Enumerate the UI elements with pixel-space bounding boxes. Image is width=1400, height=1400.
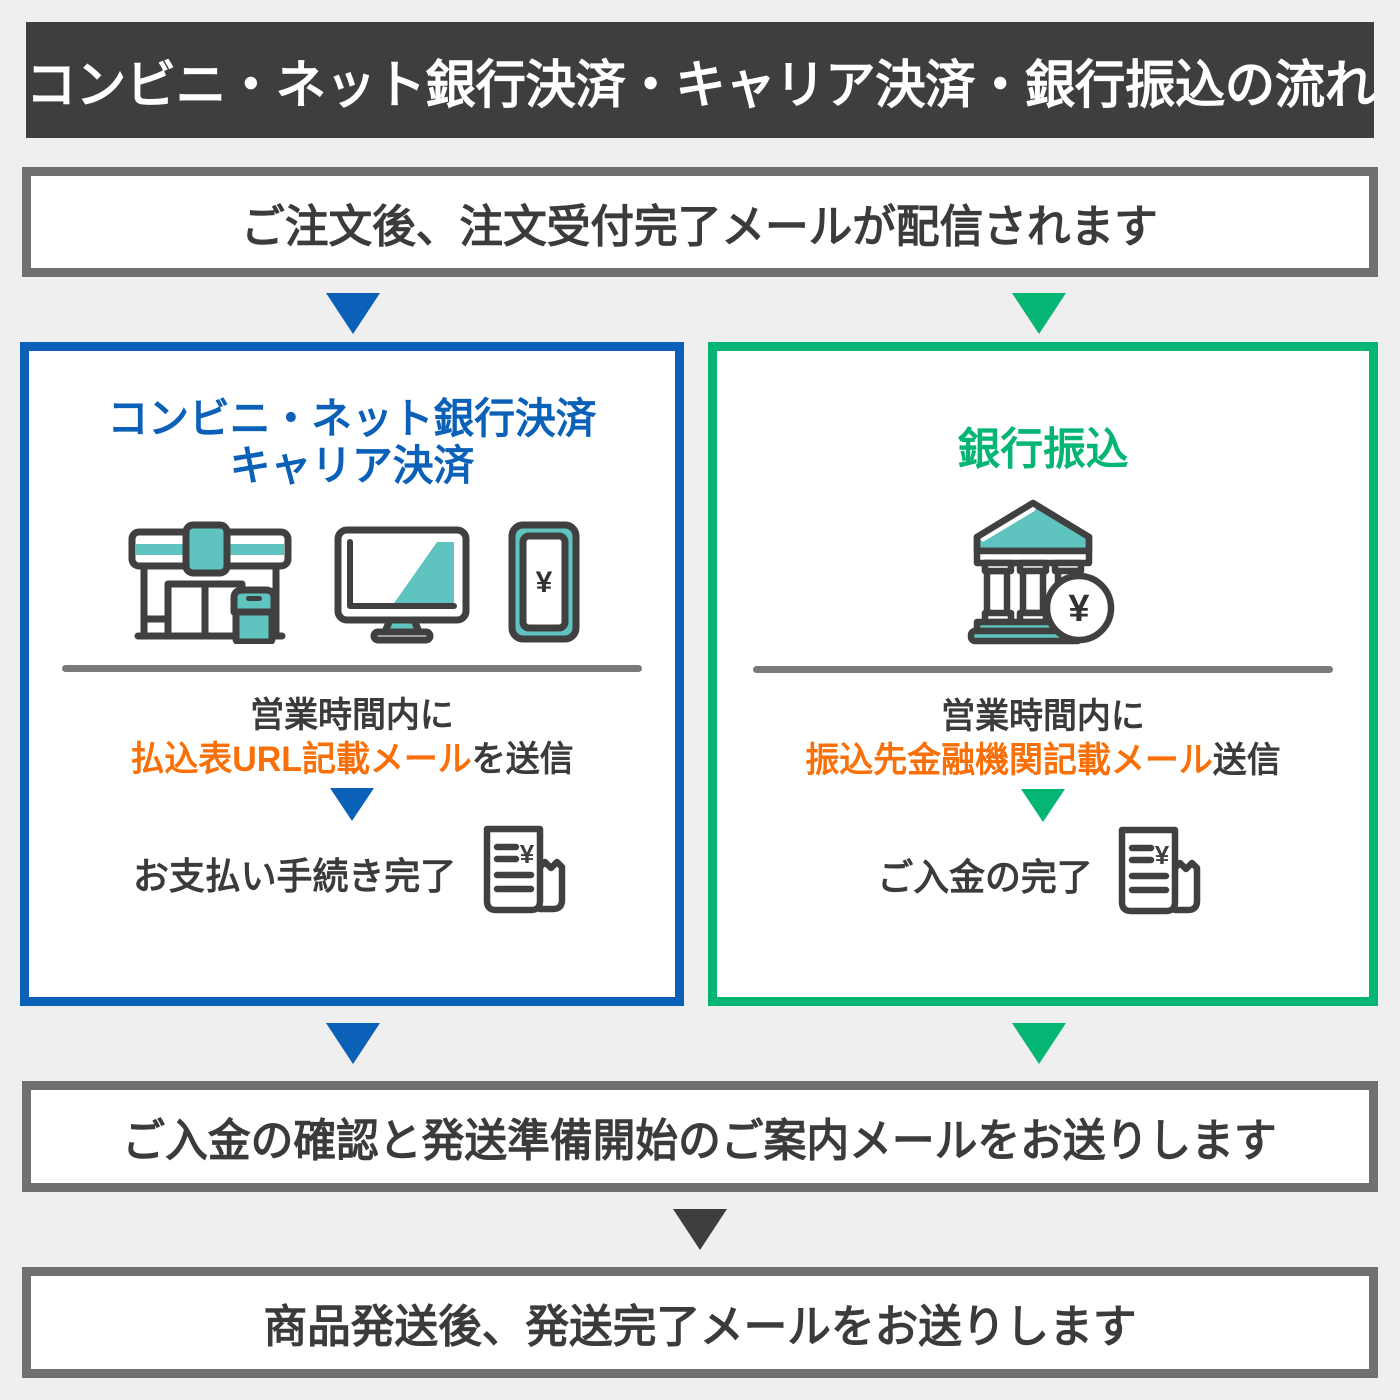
step-box-payment-confirmed: ご入金の確認と発送準備開始のご案内メールをお送りします xyxy=(22,1081,1378,1192)
arrow-down-to-bank-icon xyxy=(1012,293,1066,334)
bank-building-yen-icon: ¥ xyxy=(963,495,1123,650)
conveni-icon-row: ¥ xyxy=(29,509,675,649)
conveni-note-highlight: 払込表URL記載メール xyxy=(130,740,471,779)
bank-icon-row: ¥ xyxy=(717,510,1369,650)
svg-text:¥: ¥ xyxy=(1068,588,1089,630)
conveni-done-row: お支払い手続き完了 ¥ xyxy=(29,823,675,924)
panel-conveni-heading: コンビニ・ネット銀行決済 キャリア決済 xyxy=(39,395,666,489)
bank-done-label: ご入金の完了 xyxy=(877,847,1092,901)
desktop-monitor-icon xyxy=(332,524,472,649)
payment-flow-diagram: コンビニ・ネット銀行決済・キャリア決済・銀行振込の流れ ご注文後、注文受付完了メ… xyxy=(0,0,1400,1400)
receipt-yen-icon: ¥ xyxy=(1106,824,1212,925)
panel-convenience-payment: コンビニ・ネット銀行決済 キャリア決済 xyxy=(20,342,684,1006)
svg-text:¥: ¥ xyxy=(519,839,534,869)
step-confirm-label: ご入金の確認と発送準備開始のご案内メールをお送りします xyxy=(123,1104,1277,1169)
convenience-store-icon xyxy=(122,520,298,649)
bank-divider xyxy=(753,666,1333,673)
bank-note-highlight: 振込先金融機関記載メール xyxy=(805,741,1212,780)
arrow-down-bank-inner xyxy=(1021,789,1065,822)
arrow-down-to-conveni-icon xyxy=(326,293,380,334)
svg-text:¥: ¥ xyxy=(1155,840,1170,870)
bank-note-suffix: 送信 xyxy=(1213,741,1281,780)
page-title: コンビニ・ネット銀行決済・キャリア決済・銀行振込の流れ xyxy=(26,43,1375,118)
panel-bank-transfer: 銀行振込 xyxy=(708,342,1378,1006)
diagram-title-bar: コンビニ・ネット銀行決済・キャリア決済・銀行振込の流れ xyxy=(26,22,1374,138)
bank-note-line1: 営業時間内に xyxy=(727,695,1359,739)
step-box-order-received: ご注文後、注文受付完了メールが配信されます xyxy=(22,167,1378,277)
smartphone-yen-icon: ¥ xyxy=(506,520,582,649)
conveni-divider xyxy=(62,665,642,672)
conveni-note-line1: 営業時間内に xyxy=(39,694,666,738)
bank-note: 営業時間内に 振込先金融機関記載メール送信 xyxy=(727,695,1359,783)
svg-text:¥: ¥ xyxy=(536,566,553,599)
conveni-note-suffix: を送信 xyxy=(472,740,574,779)
receipt-yen-icon: ¥ xyxy=(471,823,577,924)
conveni-note: 営業時間内に 払込表URL記載メールを送信 xyxy=(39,694,666,782)
step-order-label: ご注文後、注文受付完了メールが配信されます xyxy=(242,190,1159,255)
step-shipped-label: 商品発送後、発送完了メールをお送りします xyxy=(263,1290,1136,1355)
arrow-down-from-bank xyxy=(1012,1023,1066,1064)
arrow-down-to-shipped xyxy=(673,1209,727,1250)
bank-done-row: ご入金の完了 ¥ xyxy=(717,824,1369,925)
conveni-note-line2: 払込表URL記載メールを送信 xyxy=(39,738,666,782)
conveni-done-label: お支払い手続き完了 xyxy=(132,846,455,900)
arrow-down-conveni-inner xyxy=(330,788,374,821)
step-box-shipment-complete: 商品発送後、発送完了メールをお送りします xyxy=(22,1267,1378,1378)
panel-bank-heading: 銀行振込 xyxy=(727,425,1359,474)
bank-note-line2: 振込先金融機関記載メール送信 xyxy=(727,739,1359,783)
arrow-down-from-conveni xyxy=(326,1023,380,1064)
